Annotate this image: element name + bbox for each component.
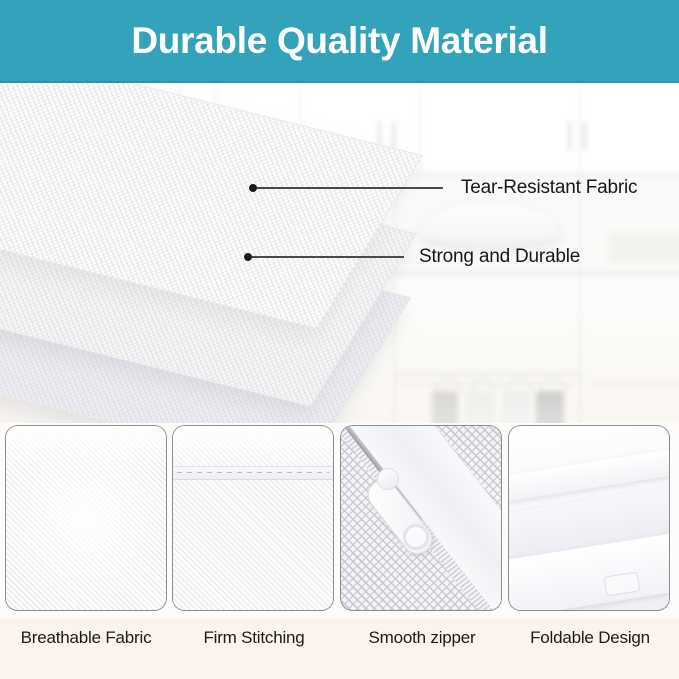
caption-foldable-design: Foldable Design	[506, 628, 674, 648]
card-glare	[173, 426, 333, 472]
page-title: Durable Quality Material	[131, 22, 547, 59]
caption-strip: Breathable Fabric Firm Stitching Smooth …	[0, 618, 679, 679]
feature-card-firm-stitching[interactable]	[172, 425, 334, 611]
feature-card-breathable-fabric[interactable]	[5, 425, 167, 611]
callout-leader-line	[252, 256, 404, 258]
card-glare	[6, 426, 166, 472]
caption-smooth-zipper: Smooth zipper	[338, 628, 506, 648]
callout-dot	[249, 184, 257, 192]
zipper-knob	[377, 468, 399, 490]
caption-firm-stitching: Firm Stitching	[170, 628, 338, 648]
feature-card-foldable-design[interactable]	[508, 425, 670, 611]
callout-label: Strong and Durable	[419, 246, 580, 268]
stitch-line	[177, 472, 329, 473]
callout-leader-line	[257, 187, 443, 189]
feature-card-row	[0, 423, 679, 615]
callout-label: Tear-Resistant Fabric	[461, 177, 637, 199]
hero-section: Tear-Resistant Fabric Strong and Durable	[0, 83, 679, 423]
header-banner: Durable Quality Material	[0, 0, 679, 83]
infographic-page: Durable Quality Material	[0, 0, 679, 679]
callout-dot	[244, 253, 252, 261]
caption-breathable-fabric: Breathable Fabric	[2, 628, 170, 648]
feature-card-smooth-zipper[interactable]	[340, 425, 502, 611]
